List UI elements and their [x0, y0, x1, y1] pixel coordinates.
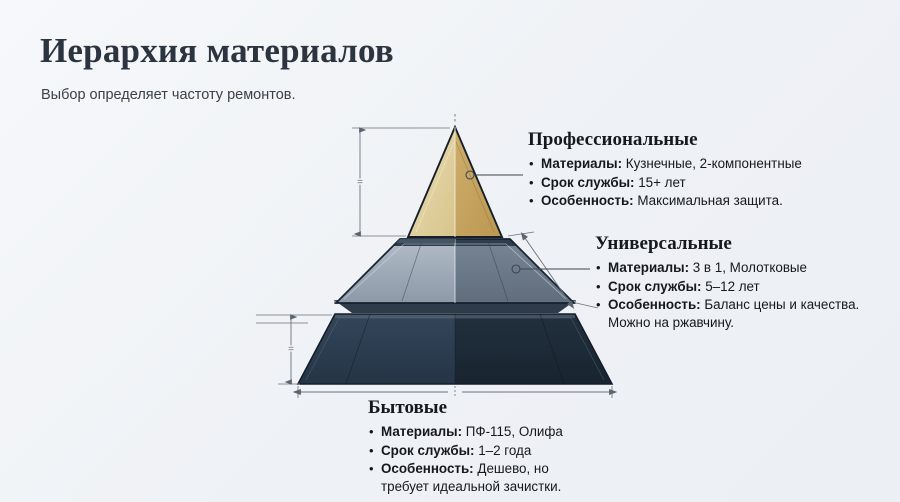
bullet-icon: •	[369, 423, 374, 441]
callout-list-universal: • Материалы: 3 в 1, Молотковые • Срок сл…	[595, 259, 859, 331]
tier-shape-household[interactable]	[298, 314, 612, 384]
list-item: • Особенность: Баланс цены и качества. М…	[595, 296, 859, 331]
callout-heading-household: Бытовые	[368, 396, 563, 420]
bullet-icon: •	[529, 174, 534, 192]
bullet-label: Особенность:	[541, 193, 634, 208]
bullet-label: Особенность:	[608, 297, 701, 312]
bullet-value: 1–2 года	[478, 443, 531, 458]
tier-shape-professional[interactable]	[408, 127, 502, 237]
bullet-value: 15+ лет	[638, 175, 685, 190]
bullet-value: 3 в 1, Молотковые	[693, 260, 807, 275]
callout-heading-professional: Профессиональные	[528, 128, 802, 152]
list-item: • Особенность: Дешево, но требует идеаль…	[368, 460, 563, 495]
callout-list-professional: • Материалы: Кузнечные, 2-компонентные •…	[528, 155, 802, 210]
bullet-icon: •	[529, 155, 534, 173]
bullet-icon: •	[596, 278, 601, 296]
callout-professional[interactable]: Профессиональные • Материалы: Кузнечные,…	[528, 128, 802, 211]
list-item: • Особенность: Максимальная защита.	[528, 192, 802, 210]
bullet-icon: •	[529, 192, 534, 210]
bullet-value: Кузнечные, 2-компонентные	[626, 156, 802, 171]
list-item: • Материалы: 3 в 1, Молотковые	[595, 259, 859, 277]
list-item: • Материалы: ПФ-115, Олифа	[368, 423, 563, 441]
bullet-icon: •	[596, 259, 601, 277]
bullet-label: Срок службы:	[381, 443, 475, 458]
bullet-value: 5–12 лет	[705, 279, 759, 294]
bullet-continuation: Можно на ржавчину.	[608, 314, 859, 332]
tier-shape-universal[interactable]	[336, 239, 574, 303]
bullet-value: Дешево, но	[477, 461, 548, 476]
slide-canvas: Иерархия материалов Выбор определяет час…	[0, 0, 900, 502]
bullet-icon: •	[369, 442, 374, 460]
bullet-value: ПФ-115, Олифа	[466, 424, 563, 439]
bullet-label: Особенность:	[381, 461, 474, 476]
dimension-equal-mark-household: =	[288, 344, 294, 355]
bullet-value: Баланс цены и качества.	[704, 297, 859, 312]
bullet-icon: •	[596, 296, 601, 314]
list-item: • Материалы: Кузнечные, 2-компонентные	[528, 155, 802, 173]
list-item: • Срок службы: 1–2 года	[368, 442, 563, 460]
bullet-value: Максимальная защита.	[637, 193, 782, 208]
callout-list-household: • Материалы: ПФ-115, Олифа • Срок службы…	[368, 423, 563, 495]
callout-household[interactable]: Бытовые • Материалы: ПФ-115, Олифа • Сро…	[368, 396, 563, 496]
bullet-continuation: требует идеальной зачистки.	[381, 478, 563, 496]
bullet-label: Срок службы:	[541, 175, 635, 190]
dimension-equal-mark-professional: =	[357, 177, 363, 188]
callout-universal[interactable]: Универсальные • Материалы: 3 в 1, Молотк…	[595, 232, 859, 332]
list-item: • Срок службы: 5–12 лет	[595, 278, 859, 296]
list-item: • Срок службы: 15+ лет	[528, 174, 802, 192]
bullet-label: Срок службы:	[608, 279, 702, 294]
bullet-label: Материалы:	[541, 156, 622, 171]
bullet-icon: •	[369, 460, 374, 478]
bullet-label: Материалы:	[608, 260, 689, 275]
bullet-label: Материалы:	[381, 424, 462, 439]
callout-heading-universal: Универсальные	[595, 232, 859, 256]
